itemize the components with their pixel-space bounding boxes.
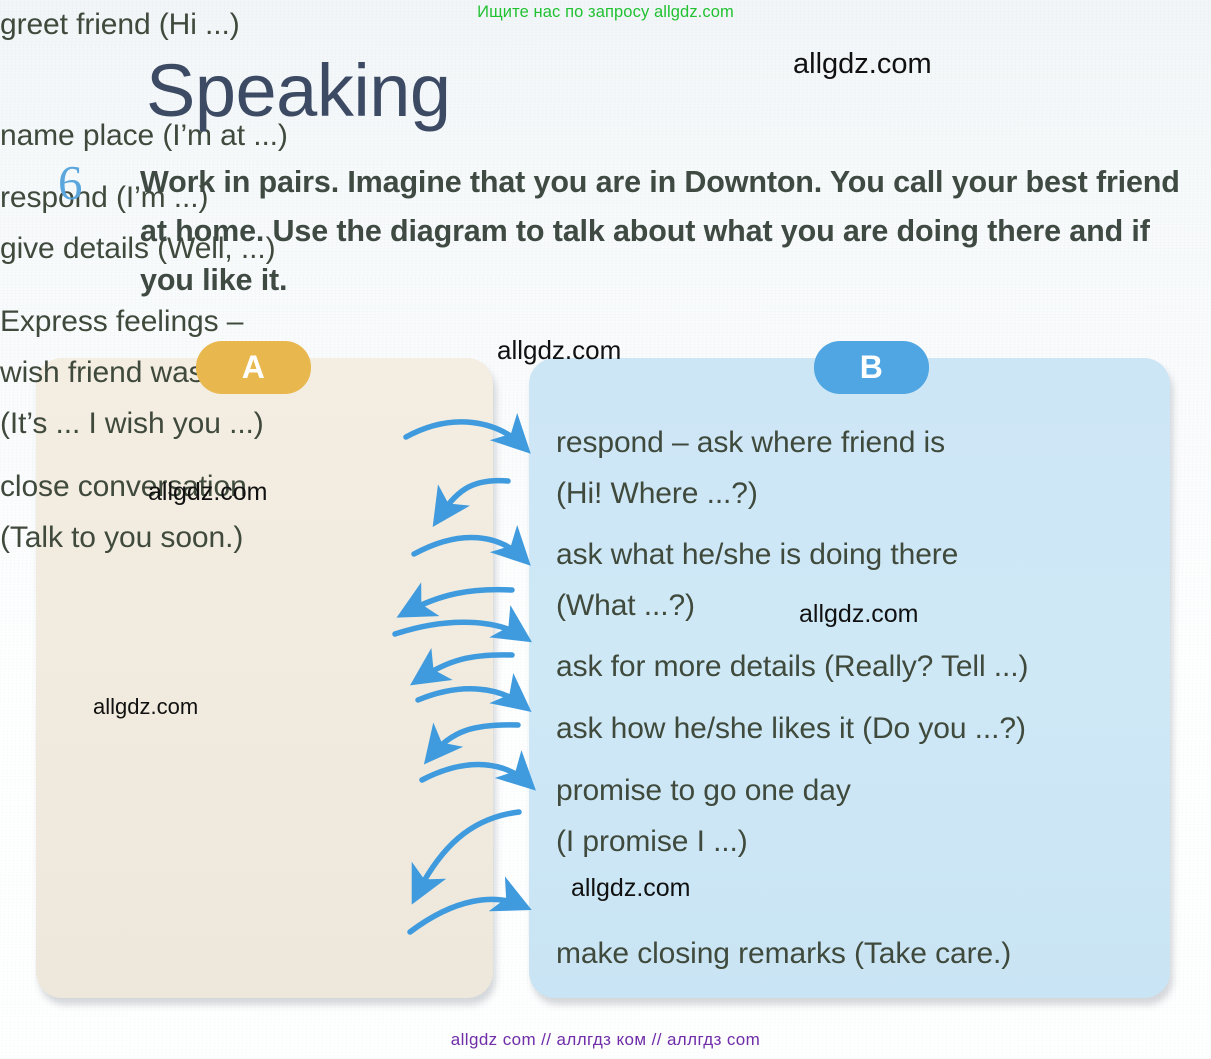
exercise-number: 6 [58, 158, 83, 207]
exercise-instruction: Work in pairs. Imagine that you are in D… [140, 158, 1185, 305]
prompt-fragment: (Hi! Where ...?) [556, 477, 758, 510]
prompt-fragment: (Take care.) [854, 937, 1011, 970]
list-item-b-2-line-2: (What ...?) [556, 581, 695, 630]
list-item-b-5-line-1: promise to go one day [556, 766, 851, 815]
prompt-fragment: (Really? Tell ...) [824, 650, 1028, 683]
prompt-fragment: (Do you ...?) [862, 712, 1026, 745]
watermark-body-4: allgdz.com [799, 600, 919, 629]
prompt-fragment: (It’s ... I wish you ...) [0, 407, 264, 440]
prompt-fragment: (What ...?) [556, 589, 695, 622]
watermark-body-5: allgdz.com [93, 694, 198, 720]
prompt-fragment: (Talk to you soon.) [0, 521, 243, 554]
list-item-a-5-line-3: (It’s ... I wish you ...) [0, 399, 264, 448]
page-title: Speaking [146, 54, 451, 128]
prompt-fragment: (I promise I ...) [556, 825, 748, 858]
list-item-b-5-line-2: (I promise I ...) [556, 817, 748, 866]
watermark-top: Ищите нас по запросу allgdz.com [0, 3, 1211, 22]
watermark-bottom: allgdz com // аллгдз ком // аллгдз com [0, 1030, 1211, 1050]
watermark-body-6: allgdz.com [571, 874, 691, 903]
watermark-body-2: allgdz.com [497, 335, 621, 366]
badge-a: A [196, 341, 311, 394]
badge-b: B [814, 341, 929, 394]
list-item-b-1-line-1: respond – ask where friend is [556, 418, 945, 467]
panel-a [36, 358, 493, 998]
list-item-b-1-line-2: (Hi! Where ...?) [556, 469, 758, 518]
list-item-b-2-line-1: ask what he/she is doing there [556, 530, 958, 579]
list-item-b-6: make closing remarks (Take care.) [556, 929, 1011, 978]
list-item-b-3: ask for more details (Really? Tell ...) [556, 642, 1028, 691]
watermark-body-1: allgdz.com [793, 48, 932, 81]
list-item-b-4: ask how he/she likes it (Do you ...?) [556, 704, 1026, 753]
list-item-a-6-line-2: (Talk to you soon.) [0, 513, 243, 562]
watermark-body-3: allgdz.com [148, 478, 268, 507]
